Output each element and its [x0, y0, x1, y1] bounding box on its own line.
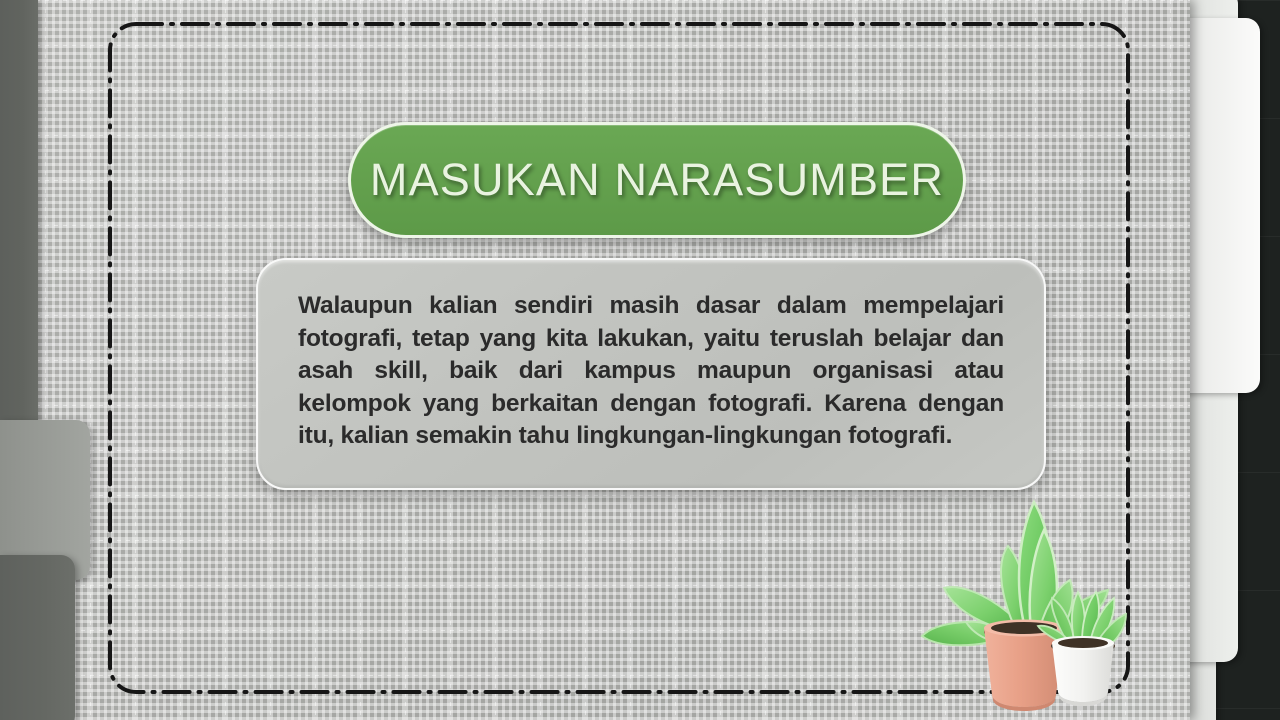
potted-plants-decoration: [900, 480, 1150, 720]
grid-line-horizontal: [0, 90, 1190, 91]
slide-body-card: Walaupun kalian sendiri masih dasar dala…: [256, 258, 1046, 490]
folder-tab-left-2: [0, 555, 75, 720]
slide-page: MASUKAN NARASUMBER Walaupun kalian sendi…: [0, 0, 1190, 720]
grid-line-vertical: [225, 0, 226, 720]
slide-title-text: MASUKAN NARASUMBER: [370, 154, 944, 206]
pot-white: [1052, 636, 1114, 706]
grid-line-vertical: [135, 0, 136, 720]
grid-line-vertical: [90, 0, 91, 720]
grid-line-horizontal: [0, 0, 1190, 1]
grid-line-vertical: [180, 0, 181, 720]
grid-line-vertical: [1170, 0, 1171, 720]
slide-body-text: Walaupun kalian sendiri masih dasar dala…: [298, 290, 1004, 453]
grid-line-horizontal: [0, 45, 1190, 46]
presentation-slide: MASUKAN NARASUMBER Walaupun kalian sendi…: [0, 0, 1280, 720]
slide-title-banner: MASUKAN NARASUMBER: [348, 122, 966, 238]
